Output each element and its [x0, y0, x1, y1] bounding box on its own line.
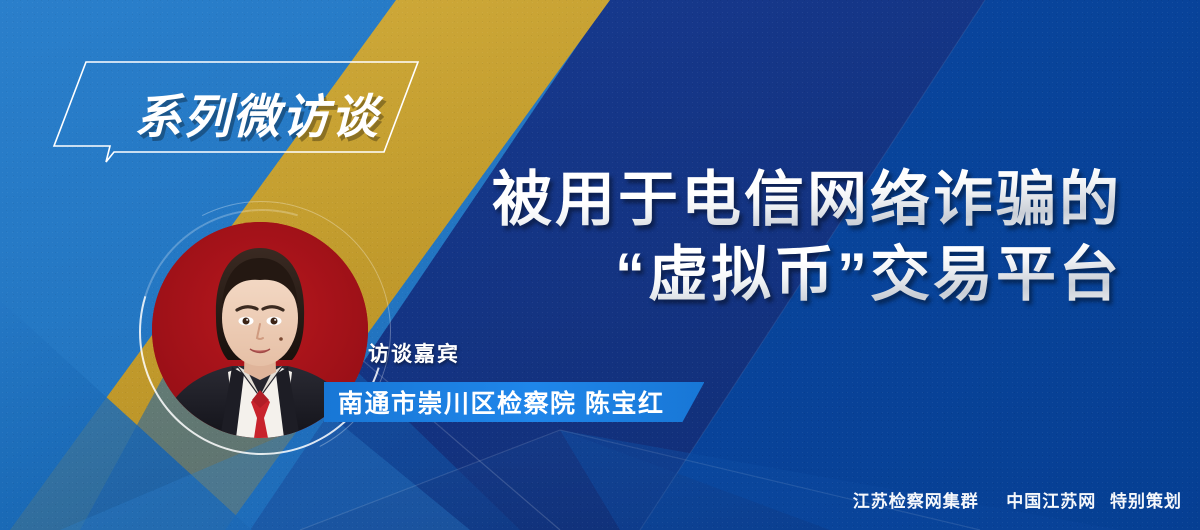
series-badge: 系列微访谈 [52, 56, 420, 164]
footer-credits: 江苏检察网集群 中国江苏网 特别策划 [853, 487, 1182, 512]
interview-banner: 系列微访谈 被用于电信网络诈骗的 “虚拟币”交易平台 [0, 0, 1200, 530]
guest-role-label: 访谈嘉宾 [368, 338, 460, 368]
headline-line-2: “虚拟币”交易平台 [492, 241, 1122, 308]
footer-item-3: 特别策划 [1110, 492, 1182, 511]
headline: 被用于电信网络诈骗的 “虚拟币”交易平台 [492, 166, 1122, 308]
headline-line-1: 被用于电信网络诈骗的 [492, 166, 1122, 233]
footer-item-1: 江苏检察网集群 [853, 492, 979, 511]
series-badge-label: 系列微访谈 [92, 66, 422, 158]
guest-name-banner: 南通市崇川区检察院 陈宝红 [324, 382, 704, 422]
guest-name-text: 南通市崇川区检察院 陈宝红 [338, 384, 664, 420]
footer-item-2: 中国江苏网 [1006, 492, 1096, 511]
